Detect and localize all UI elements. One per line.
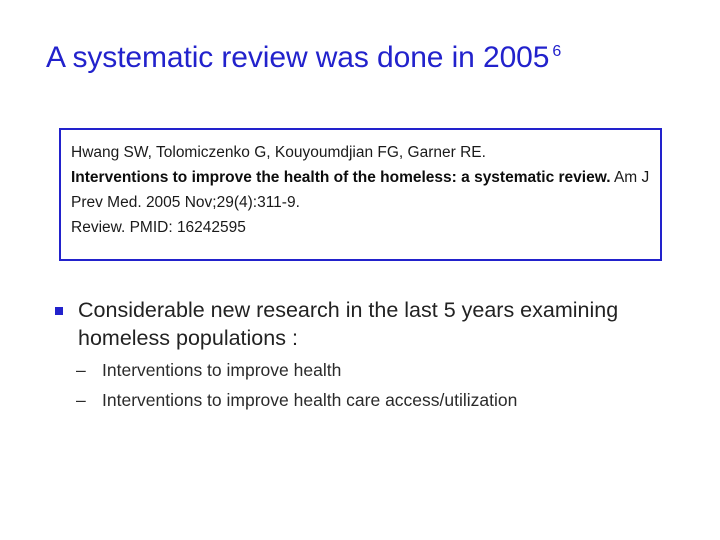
citation-review-pmid: Review. PMID: 16242595 [71,215,652,240]
en-dash-bullet-icon: – [76,359,86,382]
list-item: – Interventions to improve health care a… [76,389,690,412]
page-title-text: A systematic review was done in 2005 [46,41,549,74]
sub-bullet-list: – Interventions to improve health – Inte… [50,359,690,412]
title-block: A systematic review was done in 20056 [46,40,686,75]
citation-authors: Hwang SW, Tolomiczenko G, Kouyoumdjian F… [71,140,652,165]
citation-text: Hwang SW, Tolomiczenko G, Kouyoumdjian F… [71,140,652,240]
bullet-level1-text: Considerable new research in the last 5 … [78,297,690,353]
bullet-level2-text: Interventions to improve health [102,359,690,382]
page-title: A systematic review was done in 20056 [46,40,686,75]
square-bullet-icon [55,307,63,315]
list-item: – Interventions to improve health [76,359,690,382]
title-reference-superscript: 6 [552,43,561,60]
citation-box: Hwang SW, Tolomiczenko G, Kouyoumdjian F… [59,128,662,261]
en-dash-bullet-icon: – [76,389,86,412]
bullet-level2-text: Interventions to improve health care acc… [102,389,690,412]
citation-article-title: Interventions to improve the health of t… [71,169,611,186]
slide-canvas: A systematic review was done in 20056 Hw… [0,0,720,540]
list-item: Considerable new research in the last 5 … [50,297,690,353]
body-content: Considerable new research in the last 5 … [50,297,690,418]
